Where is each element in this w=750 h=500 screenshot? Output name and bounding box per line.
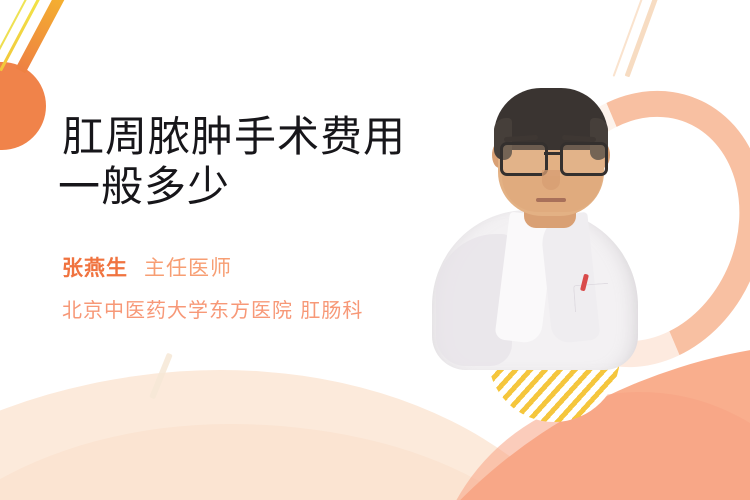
doctor-name: 张燕生 [62,252,128,282]
doctor-affiliation: 北京中医药大学东方医院 肛肠科 [62,294,406,323]
eyeglass-lens-right [560,142,608,176]
eyeglass-bridge [544,152,560,155]
health-video-cover-poster: 肛周脓肿手术费用 一般多少 张燕生 主任医师 北京中医药大学东方医院 肛肠科 [0,0,750,500]
stripe-line [16,0,71,73]
poster-text-block: 肛周脓肿手术费用 一般多少 张燕生 主任医师 北京中医药大学东方医院 肛肠科 [62,112,406,323]
orange-circle-decor [0,62,46,150]
diagonal-stripes-top-right [636,0,686,60]
diagonal-stripes-top-left [26,0,96,66]
doctor-byline: 张燕生 主任医师 [62,252,406,282]
eyeglass-lens-left [500,142,548,176]
lab-coat-pocket [573,283,610,312]
page-title-line-1: 肛周脓肿手术费用 [62,112,406,162]
nose [542,170,560,190]
page-title-line-2: 一般多少 [58,162,406,212]
doctor-portrait [414,58,714,388]
doctor-job-title: 主任医师 [144,252,232,282]
mouth [536,198,566,202]
eyeglasses-icon [498,142,606,172]
doctor-figure [414,58,714,388]
